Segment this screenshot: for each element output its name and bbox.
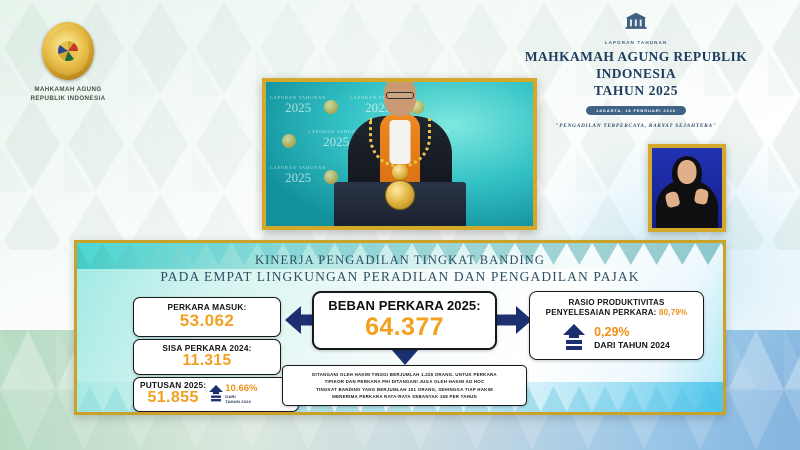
wm-year-1: 2025: [285, 100, 311, 115]
description-card: DITANGANI OLEH HAKIM TINGGI BERJUMLAH 1.…: [282, 365, 527, 406]
sisa-perkara-value: 11.315: [138, 353, 276, 369]
stat-card-putusan: PUTUSAN 2025: 51.855 10.66% DARI TAHUN 2…: [133, 377, 299, 412]
stat-card-perkara-masuk: PERKARA MASUK: 53.062: [133, 297, 281, 337]
beban-perkara-value: 64.377: [318, 314, 491, 340]
report-header: LAPORAN TAHUNAN MAHKAMAH AGUNG REPUBLIK …: [486, 12, 786, 129]
beban-perkara-label: BEBAN PERKARA 2025:: [318, 299, 491, 313]
logo-line-2: REPUBLIK INDONESIA: [22, 95, 114, 104]
description-line-3: TINGKAT BANDING YANG BERJUMLAH 101 ORANG…: [290, 386, 519, 393]
sign-language-interpreter-panel[interactable]: [648, 144, 726, 232]
rasio-delta-pct: 0,29%: [594, 326, 670, 340]
putusan-value: 51.855: [140, 390, 206, 407]
mahkamah-agung-seal-icon: [42, 22, 94, 80]
description-line-1: DITANGANI OLEH HAKIM TINGGI BERJUMLAH 1.…: [290, 371, 519, 378]
mahkamah-agung-logo: MAHKAMAH AGUNG REPUBLIK INDONESIA: [22, 22, 114, 104]
description-line-2: TIPIKOR DAN PERKARA PHI DITANGANI JUGA O…: [290, 378, 519, 385]
putusan-delta-pct: 10.66%: [225, 384, 257, 394]
wm-year-5: 2025: [285, 170, 311, 185]
arrow-up-icon: [563, 324, 585, 352]
putusan-delta-sub-2: TAHUN 2024: [225, 399, 257, 404]
arrow-up-icon: [209, 385, 223, 403]
stat-card-beban-perkara: BEBAN PERKARA 2025: 64.377: [312, 291, 497, 350]
infographic-panel: KINERJA PENGADILAN TINGKAT BANDING PADA …: [74, 240, 726, 415]
wm-year-3: 2025: [323, 134, 349, 149]
logo-line-1: MAHKAMAH AGUNG: [22, 86, 114, 95]
rasio-delta-sub: DARI TAHUN 2024: [594, 340, 670, 350]
header-tagline: "PENGADILAN TERPERCAYA, RAKYAT SEJAHTERA…: [486, 123, 786, 129]
panel-title-line-2: PADA EMPAT LINGKUNGAN PERADILAN DAN PENG…: [77, 268, 723, 286]
podium-seal-icon: [385, 180, 415, 210]
header-year: TAHUN 2025: [486, 83, 786, 99]
podium: [334, 182, 466, 226]
perkara-masuk-value: 53.062: [138, 312, 276, 330]
header-title: MAHKAMAH AGUNG REPUBLIK INDONESIA: [486, 49, 786, 83]
interpreter-face: [678, 160, 697, 184]
rasio-label-line-1: RASIO PRODUKTIVITAS: [536, 298, 697, 308]
stat-card-rasio-produktivitas: RASIO PRODUKTIVITAS PENYELESAIAN PERKARA…: [529, 291, 704, 360]
watermark-seal-icon-1: [324, 100, 338, 114]
header-mini-label: LAPORAN TAHUNAN: [605, 40, 668, 45]
court-building-icon: [621, 12, 651, 30]
panel-title-line-1: KINERJA PENGADILAN TINGKAT BANDING: [77, 252, 723, 268]
panel-title: KINERJA PENGADILAN TINGKAT BANDING PADA …: [77, 243, 723, 286]
putusan-delta-badge: 10.66% DARI TAHUN 2024: [209, 384, 257, 404]
watermark-seal-icon-3: [282, 134, 296, 148]
rasio-label-value: 80,79%: [659, 308, 687, 317]
header-date-badge: JAKARTA, 18 FEBRUARI 2026: [586, 106, 686, 115]
rasio-label-line-2: PENYELESAIAN PERKARA:: [546, 308, 657, 317]
description-line-4: MENERIMA PERKARA RATA-RATA SEBANYAK 158 …: [290, 393, 519, 400]
stat-card-sisa-perkara: SISA PERKARA 2024: 11.315: [133, 339, 281, 375]
